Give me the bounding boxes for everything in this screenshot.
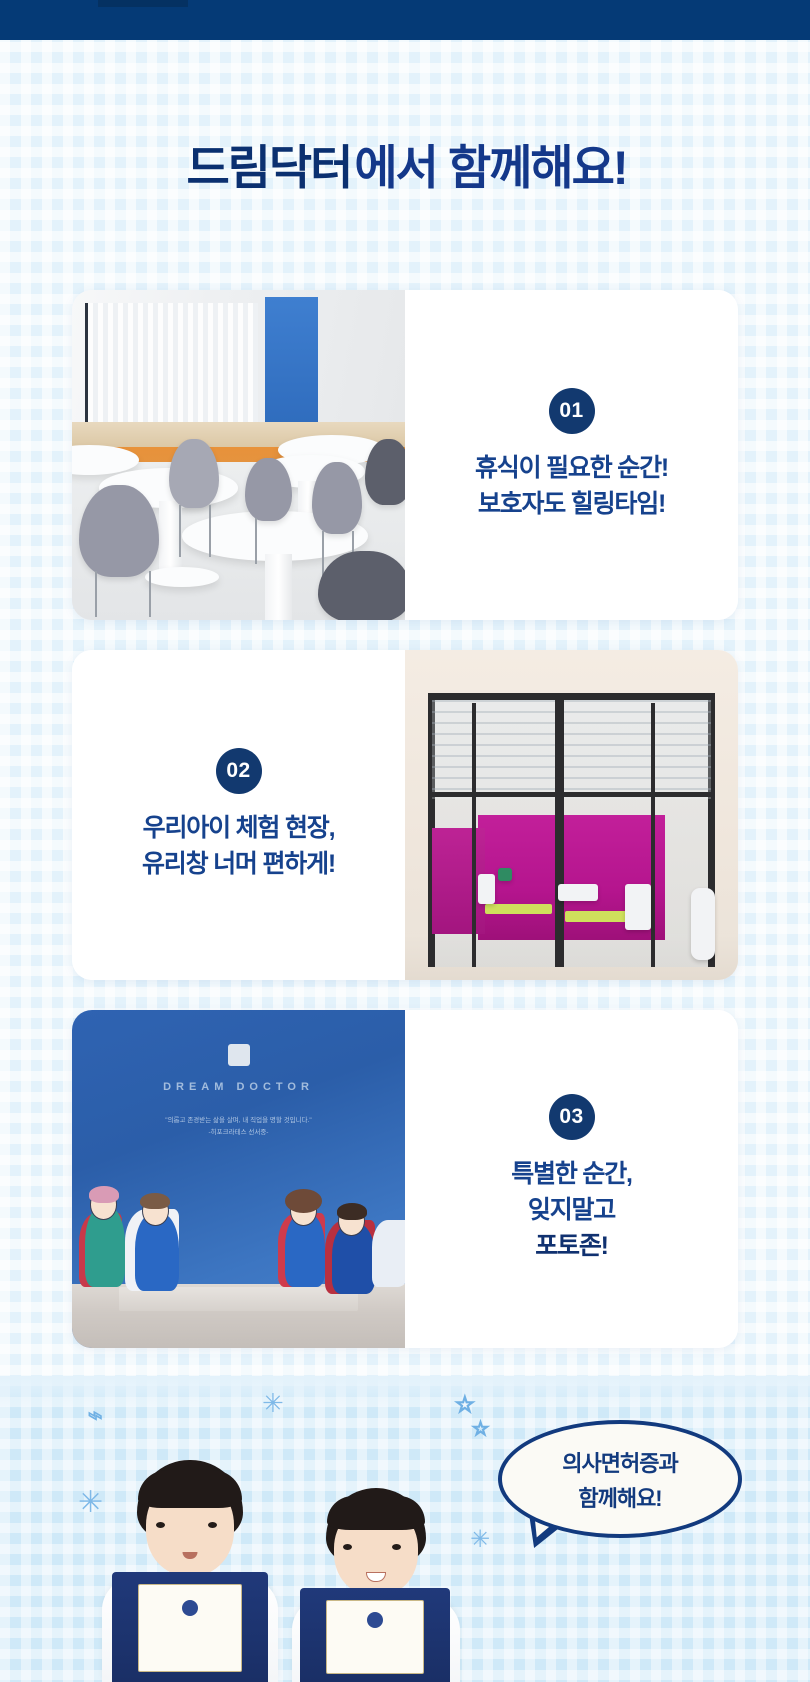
card-03-badge: 03 [549, 1094, 595, 1140]
feature-card-03[interactable]: DREAM DOCTOR "의롭고 존경받는 삶을 살며, 내 직업을 명할 것… [72, 1010, 738, 1348]
card-03-line-1: 특별한 순간, [511, 1156, 632, 1192]
photozone-logo: DREAM DOCTOR [163, 1081, 314, 1093]
speech-bubble-line-2: 함께해요! [578, 1481, 661, 1513]
card-03-line-2: 잊지말고 [528, 1192, 615, 1228]
page-title-wrap: 드림닥터에서 함께해요! [0, 140, 810, 195]
topbar-chip [98, 0, 188, 7]
card-02-line-2: 유리창 너머 편하게! [142, 846, 335, 882]
sparkle-icon: ✳ [470, 1528, 490, 1552]
certificate-folder-right [300, 1588, 450, 1682]
hero-top-fade [0, 1376, 810, 1410]
card-02-photo [405, 650, 738, 980]
star-outline-icon: ☆ [455, 1394, 475, 1416]
card-03-text: 03 특별한 순간, 잊지말고 포토존! [405, 1010, 738, 1348]
sparkle-icon: ✳ [262, 1390, 284, 1416]
photozone-quote: "의롭고 존경받는 삶을 살며, 내 직업을 명할 것입니다." -히포크라테스… [102, 1115, 375, 1139]
card-02-line-1: 우리아이 체험 현장, [143, 810, 335, 846]
card-01-photo [72, 290, 405, 620]
photozone-emblem [228, 1044, 250, 1066]
zigzag-icon: ⌁ [88, 1404, 102, 1428]
top-navy-bar [0, 0, 810, 40]
card-03-photo: DREAM DOCTOR "의롭고 존경받는 삶을 살며, 내 직업을 명할 것… [72, 1010, 405, 1348]
page-root: 드림닥터에서 함께해요! [0, 0, 810, 1682]
page-title: 드림닥터에서 함께해요! [183, 140, 626, 195]
card-03-line-3: 포토존! [535, 1228, 608, 1264]
card-01-line-2: 보호자도 힐링타임! [478, 486, 665, 522]
speech-bubble-line-1: 의사면허증과 [562, 1446, 677, 1478]
card-01-text: 01 휴식이 필요한 순간! 보호자도 힐링타임! [405, 290, 738, 620]
card-01-line-1: 휴식이 필요한 순간! [475, 450, 668, 486]
feature-card-01[interactable]: 01 휴식이 필요한 순간! 보호자도 힐링타임! [72, 290, 738, 620]
page-title-rest: 에서 함께해요! [354, 141, 626, 194]
card-02-badge: 02 [216, 748, 262, 794]
feature-card-02[interactable]: 02 우리아이 체험 현장, 유리창 너머 편하게! [72, 650, 738, 980]
page-title-highlight: 드림닥터 [183, 140, 354, 195]
certificate-folder-left [112, 1572, 268, 1682]
speech-bubble: 의사면허증과 함께해요! [498, 1420, 742, 1538]
hero-section: ✳ ⌁ ✳ ☆ ☆ ✳ [0, 1376, 810, 1682]
card-01-badge: 01 [549, 388, 595, 434]
card-02-text: 02 우리아이 체험 현장, 유리창 너머 편하게! [72, 650, 405, 980]
star-outline-icon: ☆ [472, 1420, 489, 1439]
